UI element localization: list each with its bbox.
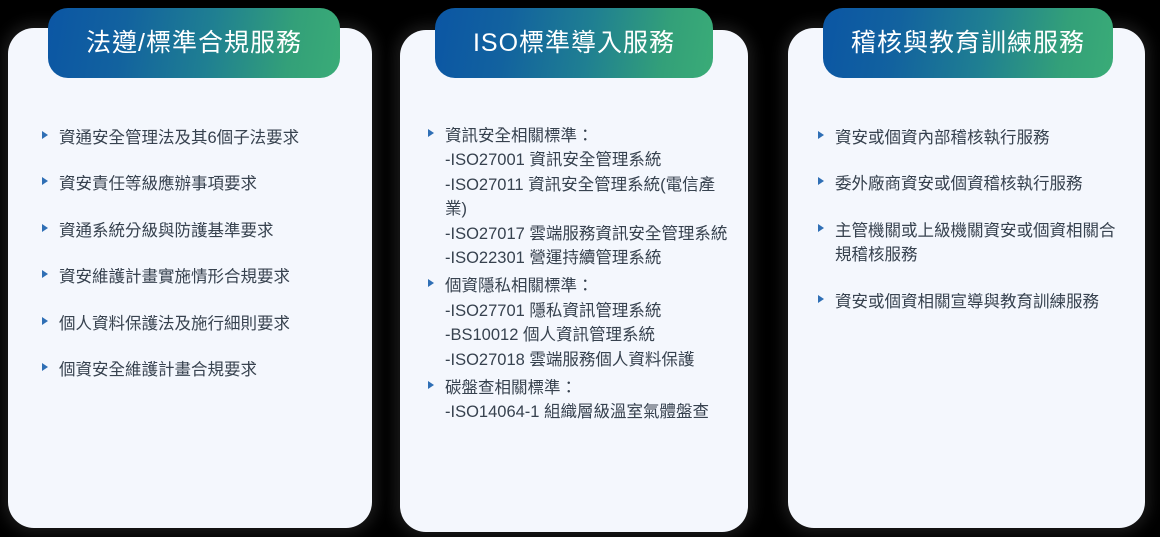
triangle-right-icon bbox=[42, 317, 48, 325]
list-item-label: 委外廠商資安或個資稽核執行服務 bbox=[835, 172, 1127, 196]
list-item-label: 個人資料保護法及施行細則要求 bbox=[59, 312, 346, 336]
sub-list-item: -ISO14064-1 組織層級溫室氣體盤查 bbox=[445, 400, 734, 424]
card-header-iso-implementation: ISO標準導入服務 bbox=[435, 8, 713, 78]
list-item-label: 個資隱私相關標準： bbox=[445, 274, 734, 298]
card-title-audit-training: 稽核與教育訓練服務 bbox=[851, 31, 1085, 56]
card-body-compliance: 資通安全管理法及其6個子法要求資安責任等級應辦事項要求資通系統分級與防護基準要求… bbox=[8, 106, 372, 518]
sub-list: -ISO27701 隱私資訊管理系統-BS10012 個人資訊管理系統-ISO2… bbox=[445, 299, 734, 372]
list-item-label: 資安或個資相關宣導與教育訓練服務 bbox=[835, 290, 1127, 314]
card-header-compliance: 法遵/標準合規服務 bbox=[48, 8, 340, 78]
bullet-list-audit-training: 資安或個資內部稽核執行服務委外廠商資安或個資稽核執行服務主管機關或上級機關資安或… bbox=[818, 126, 1127, 314]
sub-list-item: -ISO27001 資訊安全管理系統 bbox=[445, 148, 734, 172]
list-item: 資安責任等級應辦事項要求 bbox=[42, 172, 346, 196]
list-item-label: 資訊安全相關標準： bbox=[445, 124, 734, 148]
triangle-right-icon bbox=[428, 279, 434, 287]
list-item: 主管機關或上級機關資安或個資相關合規稽核服務 bbox=[818, 219, 1127, 268]
triangle-right-icon bbox=[818, 295, 824, 303]
list-item: 資安或個資相關宣導與教育訓練服務 bbox=[818, 290, 1127, 314]
sub-list-item: -ISO27701 隱私資訊管理系統 bbox=[445, 299, 734, 323]
list-item-label: 資安責任等級應辦事項要求 bbox=[59, 172, 346, 196]
list-item: 資安或個資內部稽核執行服務 bbox=[818, 126, 1127, 150]
list-item: 資安維護計畫實施情形合規要求 bbox=[42, 265, 346, 289]
triangle-right-icon bbox=[818, 224, 824, 232]
triangle-right-icon bbox=[428, 381, 434, 389]
list-item-label: 資安或個資內部稽核執行服務 bbox=[835, 126, 1127, 150]
list-item-label: 資通系統分級與防護基準要求 bbox=[59, 219, 346, 243]
service-cards-stage: 資通安全管理法及其6個子法要求資安責任等級應辦事項要求資通系統分級與防護基準要求… bbox=[0, 0, 1160, 537]
service-card-audit-training: 資安或個資內部稽核執行服務委外廠商資安或個資稽核執行服務主管機關或上級機關資安或… bbox=[788, 28, 1145, 528]
card-body-audit-training: 資安或個資內部稽核執行服務委外廠商資安或個資稽核執行服務主管機關或上級機關資安或… bbox=[788, 106, 1145, 518]
triangle-right-icon bbox=[818, 177, 824, 185]
card-body-iso-implementation: 資訊安全相關標準：-ISO27001 資訊安全管理系統-ISO27011 資訊安… bbox=[400, 108, 748, 522]
triangle-right-icon bbox=[428, 129, 434, 137]
list-item: 資通安全管理法及其6個子法要求 bbox=[42, 126, 346, 150]
list-item: 碳盤查相關標準：-ISO14064-1 組織層級溫室氣體盤查 bbox=[428, 376, 734, 425]
sub-list-item: -ISO27017 雲端服務資訊安全管理系統 bbox=[445, 222, 734, 246]
triangle-right-icon bbox=[42, 363, 48, 371]
list-item: 個資隱私相關標準：-ISO27701 隱私資訊管理系統-BS10012 個人資訊… bbox=[428, 274, 734, 372]
bullet-list-iso-implementation: 資訊安全相關標準：-ISO27001 資訊安全管理系統-ISO27011 資訊安… bbox=[428, 124, 734, 425]
list-item: 資通系統分級與防護基準要求 bbox=[42, 219, 346, 243]
list-item-label: 資通安全管理法及其6個子法要求 bbox=[59, 126, 346, 150]
card-title-iso-implementation: ISO標準導入服務 bbox=[473, 31, 675, 56]
service-card-iso-implementation: 資訊安全相關標準：-ISO27001 資訊安全管理系統-ISO27011 資訊安… bbox=[400, 30, 748, 532]
sub-list: -ISO14064-1 組織層級溫室氣體盤查 bbox=[445, 400, 734, 424]
sub-list-item: -BS10012 個人資訊管理系統 bbox=[445, 323, 734, 347]
card-title-compliance: 法遵/標準合規服務 bbox=[86, 31, 302, 56]
service-card-compliance: 資通安全管理法及其6個子法要求資安責任等級應辦事項要求資通系統分級與防護基準要求… bbox=[8, 28, 372, 528]
sub-list: -ISO27001 資訊安全管理系統-ISO27011 資訊安全管理系統(電信產… bbox=[445, 148, 734, 270]
list-item: 個人資料保護法及施行細則要求 bbox=[42, 312, 346, 336]
list-item-label: 資安維護計畫實施情形合規要求 bbox=[59, 265, 346, 289]
triangle-right-icon bbox=[42, 270, 48, 278]
triangle-right-icon bbox=[42, 224, 48, 232]
triangle-right-icon bbox=[42, 131, 48, 139]
list-item: 個資安全維護計畫合規要求 bbox=[42, 358, 346, 382]
card-header-audit-training: 稽核與教育訓練服務 bbox=[823, 8, 1113, 78]
list-item: 委外廠商資安或個資稽核執行服務 bbox=[818, 172, 1127, 196]
list-item-label: 碳盤查相關標準： bbox=[445, 376, 734, 400]
triangle-right-icon bbox=[42, 177, 48, 185]
sub-list-item: -ISO22301 營運持續管理系統 bbox=[445, 246, 734, 270]
list-item: 資訊安全相關標準：-ISO27001 資訊安全管理系統-ISO27011 資訊安… bbox=[428, 124, 734, 270]
sub-list-item: -ISO27011 資訊安全管理系統(電信產業) bbox=[445, 173, 734, 222]
list-item-label: 主管機關或上級機關資安或個資相關合規稽核服務 bbox=[835, 219, 1127, 268]
triangle-right-icon bbox=[818, 131, 824, 139]
bullet-list-compliance: 資通安全管理法及其6個子法要求資安責任等級應辦事項要求資通系統分級與防護基準要求… bbox=[42, 126, 346, 382]
sub-list-item: -ISO27018 雲端服務個人資料保護 bbox=[445, 348, 734, 372]
list-item-label: 個資安全維護計畫合規要求 bbox=[59, 358, 346, 382]
